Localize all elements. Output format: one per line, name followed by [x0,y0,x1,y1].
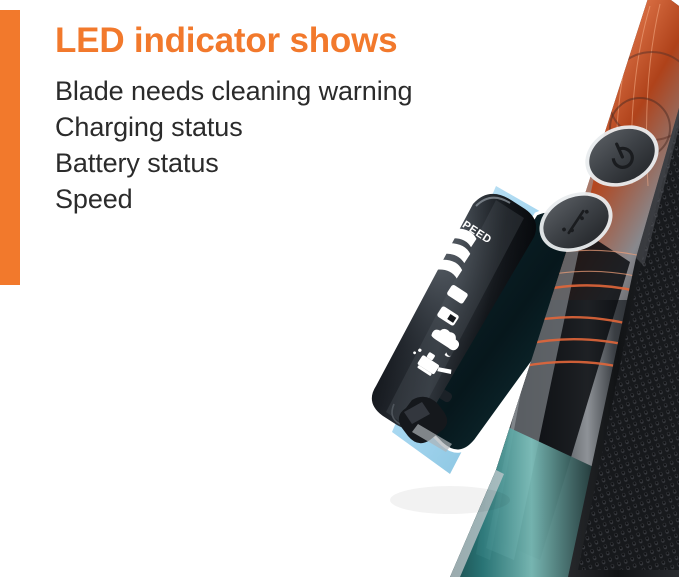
product-photo: SPEED [300,0,679,577]
promo-image-canvas: LED indicator shows Blade needs cleaning… [0,0,679,577]
orange-accent-bar [0,10,20,285]
